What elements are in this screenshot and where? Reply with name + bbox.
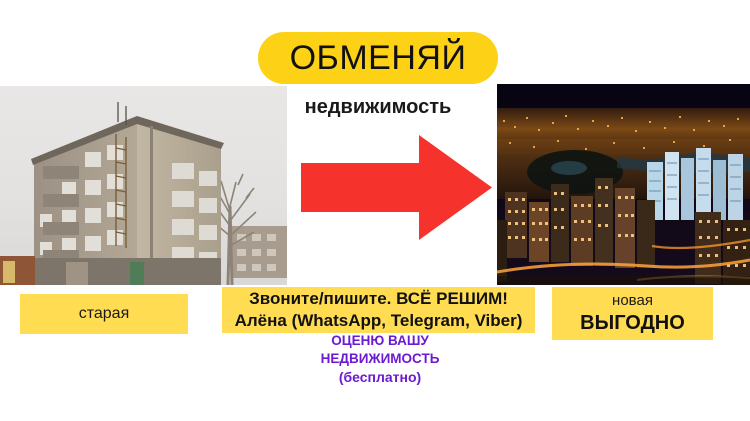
old-property-label-box: старая: [20, 294, 188, 334]
old-property-label: старая: [79, 305, 130, 323]
subheadline: недвижимость: [258, 96, 498, 119]
new-property-label-box: новая ВЫГОДНО: [552, 287, 713, 340]
advertisement-poster: ОБМЕНЯЙ недвижимость старая Звоните/пиши…: [0, 0, 750, 421]
old-building-photo: [0, 86, 287, 285]
new-property-emphasis: ВЫГОДНО: [580, 311, 685, 335]
exchange-arrow: [301, 135, 492, 240]
new-city-photo: [497, 84, 750, 285]
contact-line-1: Звоните/пишите. ВСЁ РЕШИМ!: [249, 288, 508, 310]
right-arrow-icon: [301, 135, 492, 240]
page-title: ОБМЕНЯЙ: [290, 41, 467, 75]
offer-line-1: ОЦЕНЮ ВАШУ: [255, 332, 505, 350]
offer-line-3: (бесплатно): [255, 368, 505, 387]
headline-pill: ОБМЕНЯЙ: [258, 32, 498, 84]
old-apartment-building-photo-icon: [0, 86, 287, 285]
new-property-label: новая: [612, 292, 653, 311]
offer-line-2: НЕДВИЖИМОСТЬ: [255, 350, 505, 368]
new-city-night-skyline-photo-icon: [497, 84, 750, 285]
contact-line-2: Алёна (WhatsApp, Telegram, Viber): [235, 310, 523, 332]
free-appraisal-offer: ОЦЕНЮ ВАШУ НЕДВИЖИМОСТЬ (бесплатно): [255, 332, 505, 387]
contact-label-box: Звоните/пишите. ВСЁ РЕШИМ! Алёна (WhatsA…: [222, 287, 535, 333]
